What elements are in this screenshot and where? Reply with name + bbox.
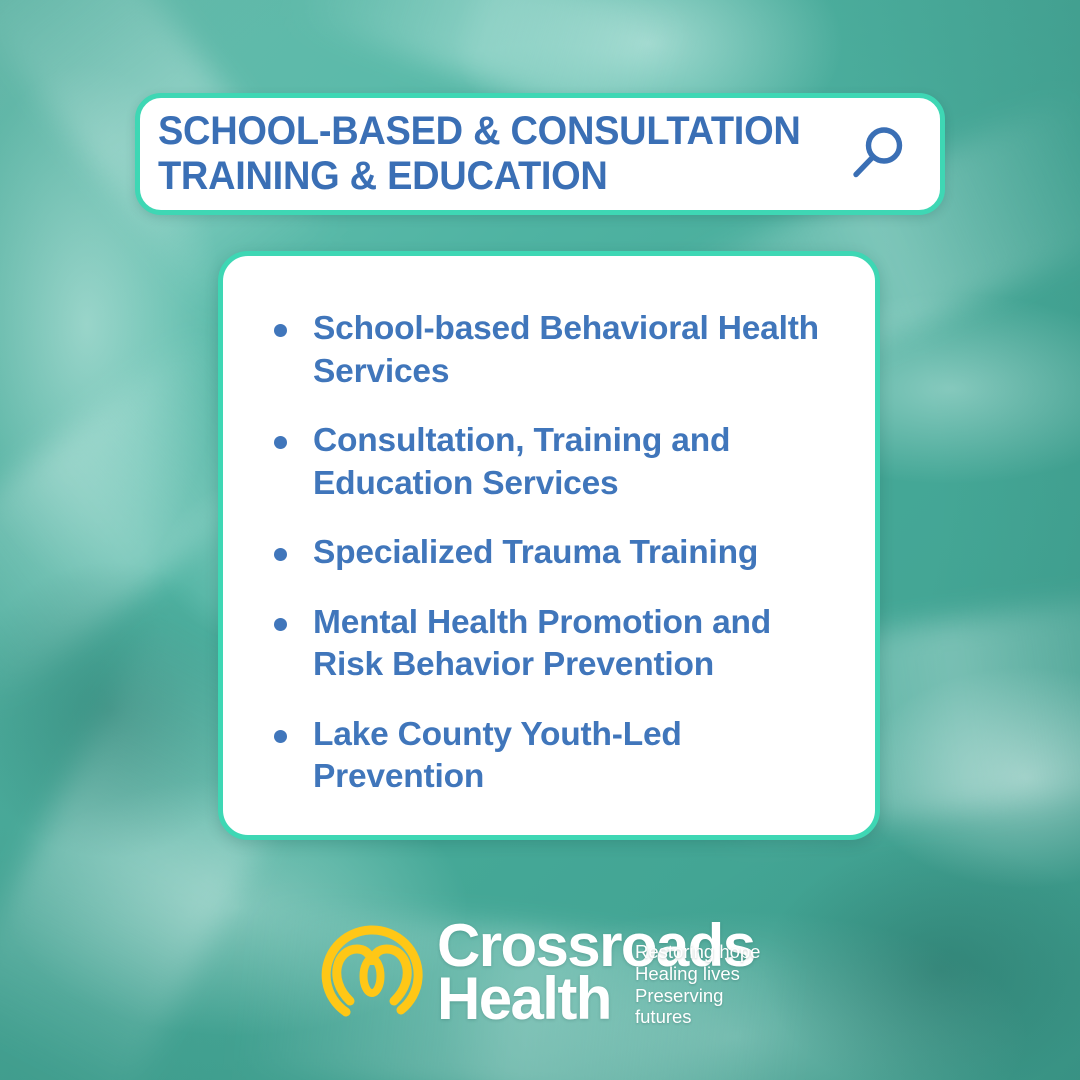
list-item-label: School-based Behavioral Health Services xyxy=(313,310,819,390)
search-icon[interactable] xyxy=(842,118,914,190)
list-item: Consultation, Training and Education Ser… xyxy=(267,420,835,505)
list-item-label: Specialized Trauma Training xyxy=(313,534,758,571)
bullet-dot-icon xyxy=(274,324,287,337)
heart-spiral-logo-icon xyxy=(313,917,431,1029)
bullet-dot-icon xyxy=(274,436,287,449)
list-item: Mental Health Promotion and Risk Behavio… xyxy=(267,602,835,687)
list-item-label: Lake County Youth-Led Prevention xyxy=(313,716,682,796)
logo-tagline: Restoring hope Healing lives Preserving … xyxy=(635,941,783,1028)
services-list: School-based Behavioral Health Services … xyxy=(267,308,835,799)
list-item-label: Consultation, Training and Education Ser… xyxy=(313,422,730,502)
poster-canvas: SCHOOL-BASED & CONSULTATION TRAINING & E… xyxy=(0,0,1080,1080)
bullet-dot-icon xyxy=(274,730,287,743)
logo-wordmark: Crossroads Health Restoring hope Healing… xyxy=(437,920,783,1026)
logo-lockup: Crossroads Health Restoring hope Healing… xyxy=(313,912,783,1034)
list-item: Lake County Youth-Led Prevention xyxy=(267,714,835,799)
services-card: School-based Behavioral Health Services … xyxy=(218,251,880,840)
list-item: School-based Behavioral Health Services xyxy=(267,308,835,393)
page-title: SCHOOL-BASED & CONSULTATION TRAINING & E… xyxy=(158,109,804,199)
bullet-dot-icon xyxy=(274,618,287,631)
list-item: Specialized Trauma Training xyxy=(267,532,835,575)
header-card: SCHOOL-BASED & CONSULTATION TRAINING & E… xyxy=(135,93,945,215)
list-item-label: Mental Health Promotion and Risk Behavio… xyxy=(313,604,771,684)
bullet-dot-icon xyxy=(274,548,287,561)
